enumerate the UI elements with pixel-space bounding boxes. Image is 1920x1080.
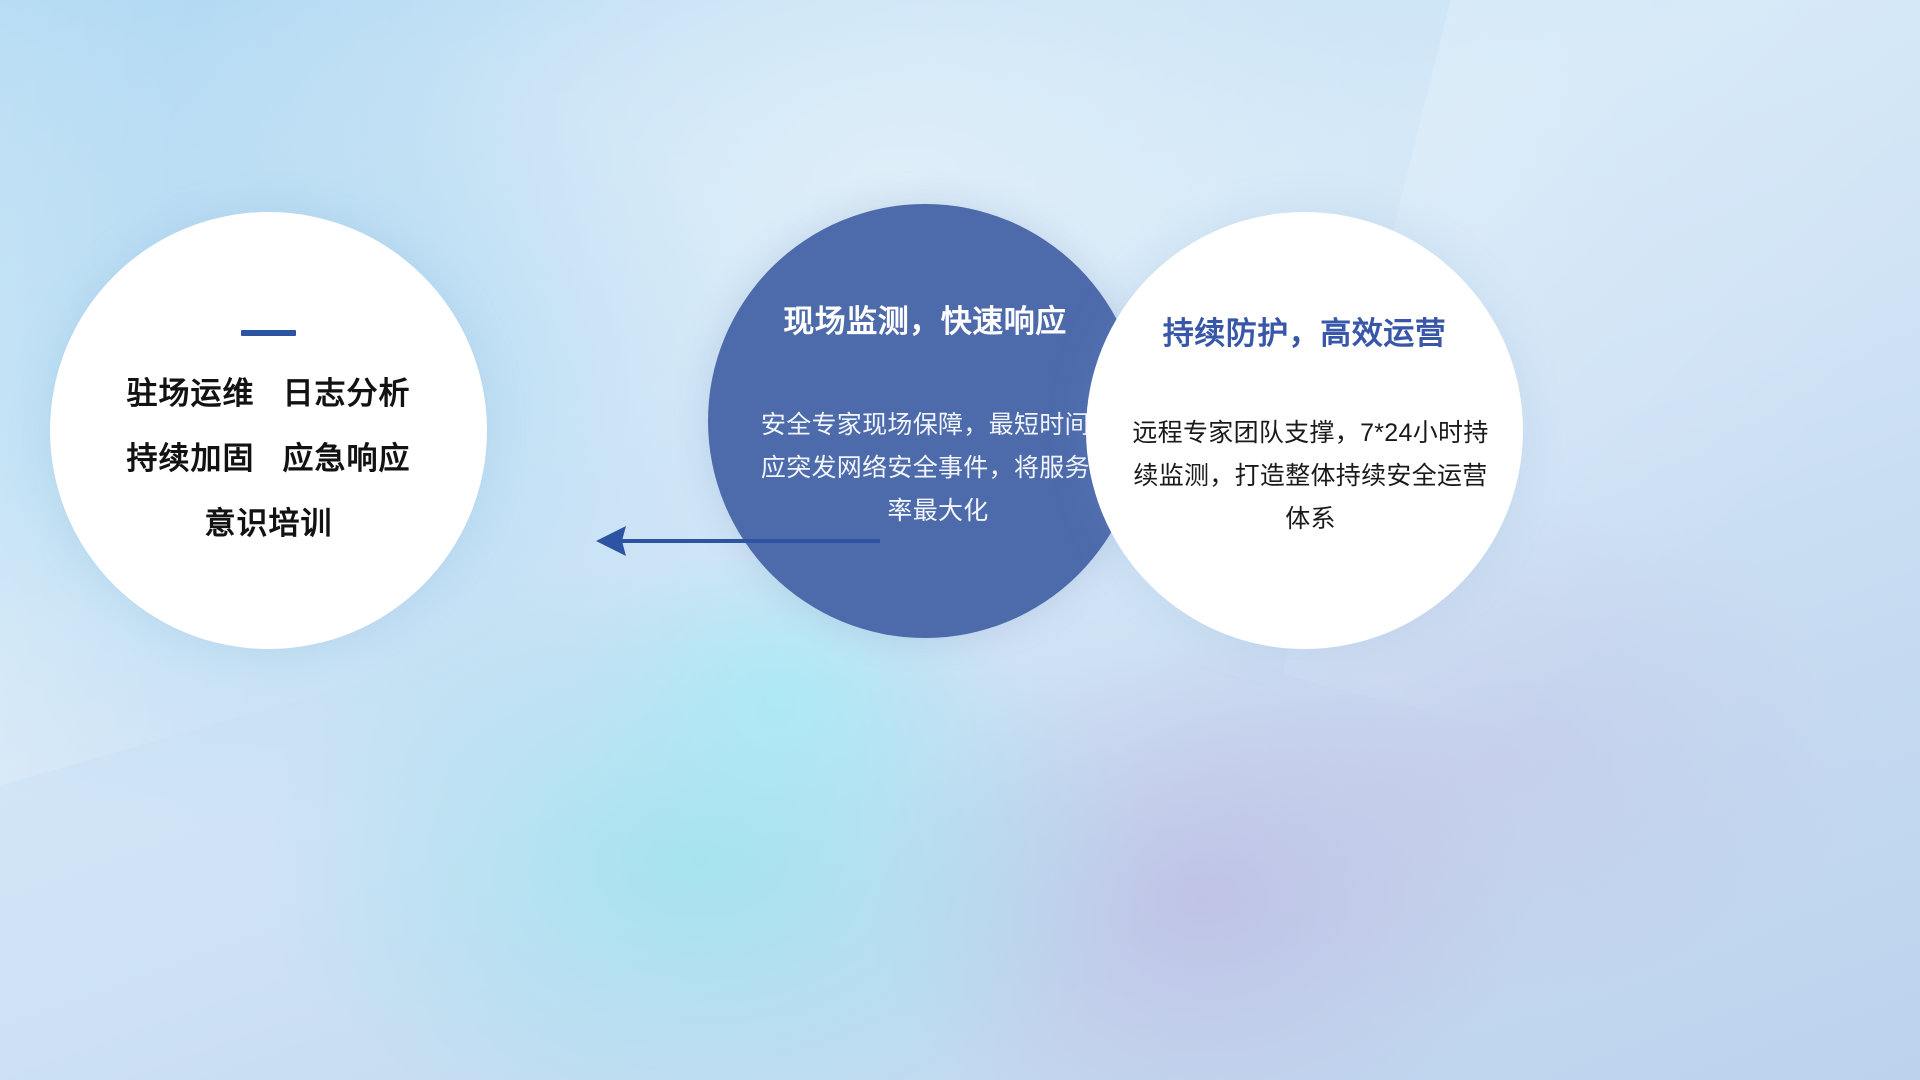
row-gap xyxy=(255,443,283,474)
service-label-log-analysis: 日志分析 xyxy=(283,378,411,409)
service-label-onsite-ops: 驻场运维 xyxy=(127,378,255,409)
service-label-emergency-response: 应急响应 xyxy=(283,443,411,474)
middle-circle-body: 安全专家现场保障，最短时间响应突发网络安全事件，将服务效率最大化 xyxy=(758,404,1118,533)
left-service-circle: 驻场运维 日志分析 持续加固 应急响应 意识培训 xyxy=(50,212,487,649)
right-operations-circle: 持续防护，高效运营 远程专家团队支撑，7*24小时持续监测，打造整体持续安全运营… xyxy=(1086,212,1523,649)
flow-arrow-left-icon xyxy=(592,518,882,564)
right-circle-body: 远程专家团队支撑，7*24小时持续监测，打造整体持续安全运营体系 xyxy=(1124,412,1497,541)
middle-circle-title: 现场监测，快速响应 xyxy=(708,296,1142,341)
row-gap xyxy=(255,378,283,409)
service-label-awareness-training: 意识培训 xyxy=(205,508,333,539)
service-row: 持续加固 应急响应 xyxy=(127,443,411,474)
divider-dash-icon xyxy=(241,330,296,336)
service-label-continuous-hardening: 持续加固 xyxy=(127,443,255,474)
right-circle-title: 持续防护，高效运营 xyxy=(1086,308,1523,353)
slide-canvas: 驻场运维 日志分析 持续加固 应急响应 意识培训 现场监测，快速响应 安全专家现… xyxy=(0,0,1920,1080)
service-row: 驻场运维 日志分析 xyxy=(127,378,411,409)
middle-onsite-circle: 现场监测，快速响应 安全专家现场保障，最短时间响应突发网络安全事件，将服务效率最… xyxy=(708,204,1142,638)
